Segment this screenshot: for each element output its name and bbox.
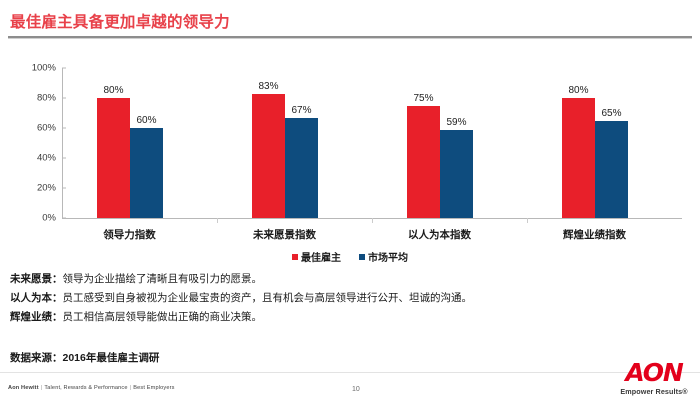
- footer-text: Aon Hewitt|Talent, Rewards & Performance…: [8, 385, 175, 391]
- page-number: 10: [352, 386, 360, 393]
- bar-group: 75%59%: [407, 68, 473, 218]
- note-line: 以人为本：员工感受到自身被视为企业最宝贵的资产，且有机会与高层领导进行公开、坦诚…: [10, 289, 694, 308]
- note-text: 员工感受到自身被视为企业最宝贵的资产，且有机会与高层领导进行公开、坦诚的沟通。: [63, 292, 473, 304]
- data-source: 数据来源：2016年最佳雇主调研: [10, 350, 159, 365]
- legend-label: 市场平均: [368, 253, 408, 264]
- bar-value-label: 75%: [401, 93, 447, 104]
- aon-tagline: Empower Results®: [616, 387, 692, 396]
- note-line: 未来愿景：领导为企业描绘了清晰且有吸引力的愿景。: [10, 270, 694, 289]
- bar-group: 80%60%: [97, 68, 163, 218]
- bar-value-label: 65%: [589, 108, 635, 119]
- x-axis-label: 辉煌业绩指数: [563, 227, 626, 242]
- y-axis-tick-label: 60%: [37, 123, 56, 134]
- y-axis-tick-label: 100%: [32, 63, 56, 74]
- footer-part-2: Best Employers: [133, 385, 174, 391]
- x-axis-label: 以人为本指数: [408, 227, 471, 242]
- y-axis: 0%20%40%60%80%100%: [14, 55, 62, 220]
- legend-swatch-icon: [292, 254, 298, 260]
- legend-item[interactable]: 最佳雇主: [292, 249, 341, 264]
- bar-group: 83%67%: [252, 68, 318, 218]
- legend-item[interactable]: 市场平均: [359, 249, 408, 264]
- aon-logo: AON Empower Results®: [616, 360, 692, 396]
- bar-value-label: 80%: [556, 85, 602, 96]
- y-axis-tick-label: 0%: [42, 213, 56, 224]
- aon-wordmark: AON: [616, 360, 692, 386]
- footer-separator-1: |: [41, 385, 43, 391]
- plot-area: 80%60%83%67%75%59%80%65%: [62, 68, 682, 218]
- footer-brand: Aon Hewitt: [8, 385, 39, 391]
- y-axis-tick-label: 20%: [37, 183, 56, 194]
- note-term: 未来愿景：: [10, 273, 63, 285]
- note-line: 辉煌业绩：员工相信高层领导能做出正确的商业决策。: [10, 308, 694, 327]
- bar-market-average[interactable]: [595, 121, 628, 219]
- bar-market-average[interactable]: [440, 130, 473, 219]
- legend-label: 最佳雇主: [301, 253, 341, 264]
- y-axis-tick-label: 80%: [37, 93, 56, 104]
- title-divider-light: [8, 38, 692, 39]
- bar-value-label: 67%: [279, 105, 325, 116]
- x-axis-group-separator: [527, 218, 528, 223]
- note-text: 员工相信高层领导能做出正确的商业决策。: [63, 311, 263, 323]
- bar-market-average[interactable]: [285, 118, 318, 219]
- footer-part-1: Talent, Rewards & Performance: [44, 385, 127, 391]
- bar-value-label: 83%: [246, 81, 292, 92]
- footer-separator-2: |: [130, 385, 132, 391]
- bar-market-average[interactable]: [130, 128, 163, 218]
- bar-value-label: 60%: [124, 115, 170, 126]
- x-axis-label: 未来愿景指数: [253, 227, 316, 242]
- chart-legend: 最佳雇主市场平均: [0, 249, 700, 264]
- footer-divider: [0, 372, 700, 373]
- bar-value-label: 80%: [91, 85, 137, 96]
- x-axis-label: 领导力指数: [103, 227, 156, 242]
- bar-chart: 0%20%40%60%80%100% 80%60%83%67%75%59%80%…: [0, 55, 700, 245]
- page-title: 最佳雇主具备更加卓越的领导力: [10, 10, 230, 32]
- notes-block: 未来愿景：领导为企业描绘了清晰且有吸引力的愿景。以人为本：员工感受到自身被视为企…: [10, 270, 694, 327]
- legend-swatch-icon: [359, 254, 365, 260]
- note-term: 以人为本：: [10, 292, 63, 304]
- note-text: 领导为企业描绘了清晰且有吸引力的愿景。: [63, 273, 263, 285]
- x-axis-group-separator: [372, 218, 373, 223]
- note-term: 辉煌业绩：: [10, 311, 63, 323]
- bar-value-label: 59%: [434, 117, 480, 128]
- x-axis-group-separator: [217, 218, 218, 223]
- y-axis-tick-label: 40%: [37, 153, 56, 164]
- bar-group: 80%65%: [562, 68, 628, 218]
